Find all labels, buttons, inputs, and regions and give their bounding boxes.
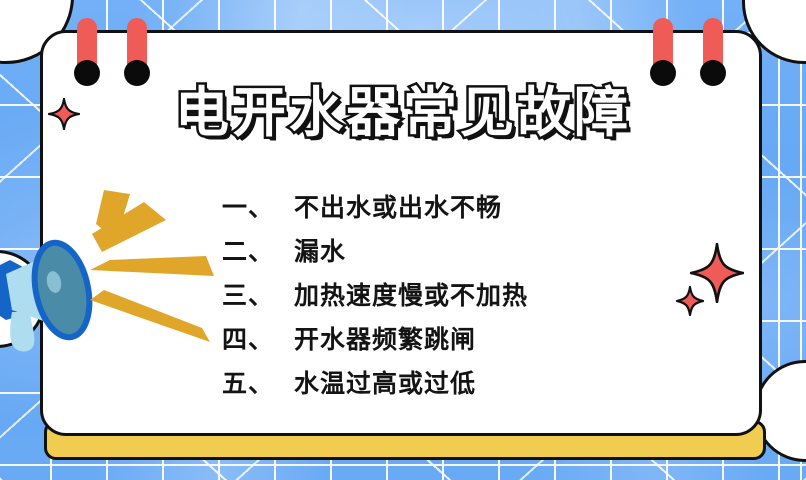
megaphone-rays-icon [86,190,236,350]
list-item-text: 水温过高或过低 [294,362,476,406]
list-item: 四、 开水器频繁跳闸 [222,318,692,362]
binder-ring-knob [650,60,676,86]
list-item-number: 一、 [222,186,294,230]
fault-list: 一、 不出水或出水不畅 二、 漏水 三、 加热速度慢或不加热 四、 开水器频繁跳… [222,186,692,406]
binder-ring-knob [124,60,150,86]
binder-ring-icon [650,18,676,100]
binder-ring-knob [74,60,100,86]
list-item: 一、 不出水或出水不畅 [222,186,692,230]
list-item-number: 三、 [222,274,294,318]
binder-ring-knob [700,60,726,86]
list-item-text: 不出水或出水不畅 [294,186,502,230]
list-item: 二、 漏水 [222,230,692,274]
poster-title-wrap: 电开水器常见故障 [0,86,806,140]
list-item-number: 五、 [222,362,294,406]
binder-ring-icon [700,18,726,100]
list-item-number: 二、 [222,230,294,274]
list-item-text: 漏水 [294,230,346,274]
list-item-text: 开水器频繁跳闸 [294,318,476,362]
list-item: 三、 加热速度慢或不加热 [222,274,692,318]
list-item: 五、 水温过高或过低 [222,362,692,406]
list-item-text: 加热速度慢或不加热 [294,274,528,318]
binder-ring-icon [74,18,100,100]
poster-title: 电开水器常见故障 [175,86,631,140]
binder-ring-icon [124,18,150,100]
list-item-number: 四、 [222,318,294,362]
poster-canvas: 电开水器常见故障 一、 不出水或出水不畅 二、 漏水 三、 加热速度慢或不加热 … [0,0,806,480]
